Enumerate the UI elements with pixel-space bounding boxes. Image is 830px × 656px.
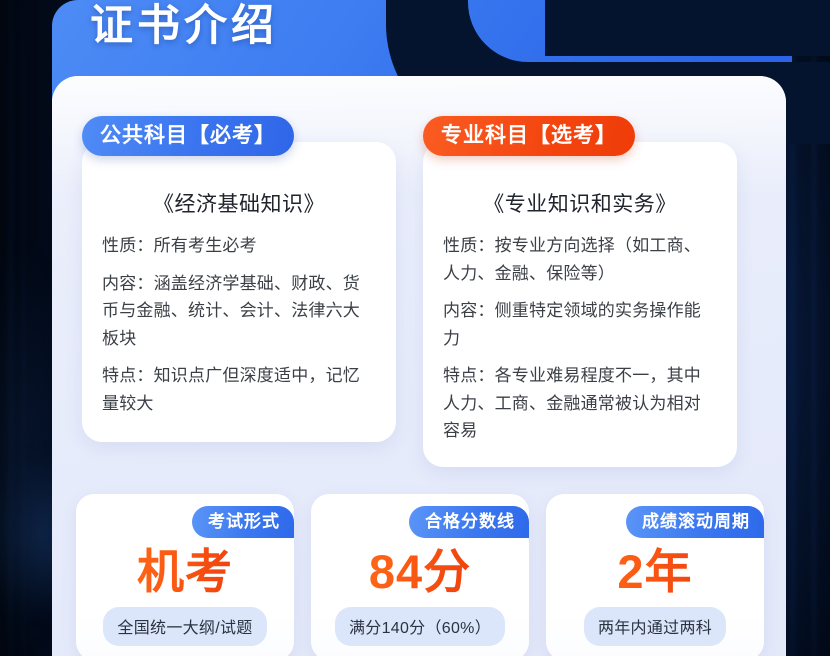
stat-card-pass-score: 合格分数线 84分 满分140分（60%） (311, 494, 529, 656)
subject-title-public: 《经济基础知识》 (102, 188, 376, 218)
subject-card-public: 公共科目【必考】 《经济基础知识》 性质：所有考生必考 内容：涵盖经济学基础、财… (82, 142, 396, 442)
stat-value-pass-score: 84分 (311, 546, 529, 598)
subject-line-feature: 特点：知识点广但深度适中，记忆量较大 (102, 362, 376, 417)
subject-line-content: 内容：侧重特定领域的实务操作能力 (443, 297, 717, 352)
stat-card-rolling-period: 成绩滚动周期 2年 两年内通过两科 (546, 494, 764, 656)
subject-line-nature: 性质：按专业方向选择（如工商、人力、金融、保险等） (443, 232, 717, 287)
subject-line-content: 内容：涵盖经济学基础、财政、货币与金融、统计、会计、法律六大板块 (102, 270, 376, 353)
stat-pill-rolling-period: 两年内通过两科 (584, 607, 726, 646)
stat-pill-pass-score: 满分140分（60%） (335, 607, 505, 646)
subject-badge-professional: 专业科目【选考】 (423, 116, 635, 156)
subject-line-nature: 性质：所有考生必考 (102, 232, 376, 260)
subject-card-professional: 专业科目【选考】 《专业知识和实务》 性质：按专业方向选择（如工商、人力、金融、… (423, 142, 737, 467)
page-title: 证书介绍 (90, 5, 278, 48)
stat-badge-pass-score: 合格分数线 (409, 506, 529, 538)
subject-line-feature: 特点：各专业难易程度不一，其中人力、工商、金融通常被认为相对容易 (443, 362, 717, 445)
stat-badge-exam-format: 考试形式 (192, 506, 294, 538)
subject-card-row: 公共科目【必考】 《经济基础知识》 性质：所有考生必考 内容：涵盖经济学基础、财… (82, 142, 758, 467)
poster-root: 证书介绍 公共科目【必考】 《经济基础知识》 性质：所有考生必考 内容：涵盖经济… (0, 0, 830, 656)
header-notch-mask (545, 0, 830, 56)
stat-footer-pass-score: 满分140分（60%） (323, 607, 517, 646)
stat-card-exam-format: 考试形式 机考 全国统一大纲/试题 (76, 494, 294, 656)
stat-value-rolling-period: 2年 (546, 546, 764, 598)
subject-badge-public: 公共科目【必考】 (82, 116, 294, 156)
stat-footer-exam-format: 全国统一大纲/试题 (88, 607, 282, 646)
stat-card-row: 考试形式 机考 全国统一大纲/试题 合格分数线 84分 满分140分（60%） … (76, 494, 764, 656)
stat-footer-rolling-period: 两年内通过两科 (558, 607, 752, 646)
stat-pill-exam-format: 全国统一大纲/试题 (103, 607, 266, 646)
subject-title-professional: 《专业知识和实务》 (443, 188, 717, 218)
stat-value-exam-format: 机考 (76, 546, 294, 598)
stat-badge-rolling-period: 成绩滚动周期 (626, 506, 764, 538)
content-panel: 公共科目【必考】 《经济基础知识》 性质：所有考生必考 内容：涵盖经济学基础、财… (52, 76, 786, 656)
